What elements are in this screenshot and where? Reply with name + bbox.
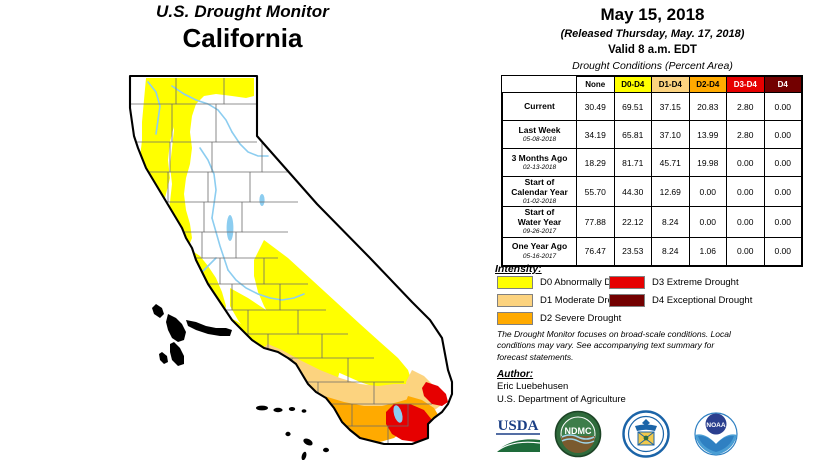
usda-seal-logo[interactable]: [622, 410, 670, 463]
valid-time: Valid 8 a.m. EDT: [485, 43, 820, 58]
table-caption: Drought Conditions (Percent Area): [485, 60, 820, 72]
legend-column-right: D3 Extreme Drought D4 Exceptional Drough…: [609, 276, 752, 312]
row-label-date: 05-16-2017: [505, 253, 574, 260]
table-row: 3 Months Ago 02-13-2018 18.29 81.71 45.7…: [503, 149, 802, 177]
col-header-none: None: [577, 77, 615, 93]
col-header-d1: D1-D4: [652, 77, 690, 93]
table-header-row: None D0-D4 D1-D4 D2-D4 D3-D4 D4: [503, 77, 802, 93]
drought-conditions-table: None D0-D4 D1-D4 D2-D4 D3-D4 D4 Current …: [502, 76, 802, 266]
col-header-d0: D0-D4: [614, 77, 652, 93]
cell-calyear-d3: 0.00: [727, 177, 765, 207]
legend-swatch-d0: [497, 276, 533, 289]
cell-lastweek-d2: 13.99: [689, 121, 727, 149]
disclaimer-text: The Drought Monitor focuses on broad-sca…: [497, 329, 742, 363]
legend-label-d2: D2 Severe Drought: [540, 313, 621, 324]
cell-lastweek-d1: 37.10: [652, 121, 690, 149]
svg-text:USDA: USDA: [498, 418, 539, 434]
title-block: U.S. Drought Monitor California: [0, 2, 485, 54]
table-row: Current 30.49 69.51 37.15 20.83 2.80 0.0…: [503, 93, 802, 121]
cell-wateryear-none: 77.88: [577, 207, 615, 237]
table-corner-cell: [503, 77, 577, 93]
ndmc-logo[interactable]: NDMC: [554, 410, 602, 463]
noaa-logo[interactable]: NOAA: [690, 410, 742, 463]
cell-3months-none: 18.29: [577, 149, 615, 177]
legend-item-d3: D3 Extreme Drought: [609, 276, 752, 289]
row-label-text: Current: [524, 101, 555, 111]
report-date: May 15, 2018: [485, 4, 820, 25]
row-label-text: Start of Calendar Year: [511, 177, 568, 197]
cell-wateryear-d1: 8.24: [652, 207, 690, 237]
cell-3months-d1: 45.71: [652, 149, 690, 177]
table-row: Last Week 05-08-2018 34.19 65.81 37.10 1…: [503, 121, 802, 149]
table-row: One Year Ago 05-16-2017 76.47 23.53 8.24…: [503, 237, 802, 265]
cell-3months-d4: 0.00: [764, 149, 802, 177]
cell-calyear-d4: 0.00: [764, 177, 802, 207]
legend-item-d4: D4 Exceptional Drought: [609, 294, 752, 307]
cell-3months-d0: 81.71: [614, 149, 652, 177]
cell-oneyear-d3: 0.00: [727, 237, 765, 265]
author-heading: Author:: [497, 369, 533, 380]
cell-wateryear-d0: 22.12: [614, 207, 652, 237]
cell-wateryear-d4: 0.00: [764, 207, 802, 237]
usda-logo[interactable]: USDA: [492, 410, 544, 463]
cell-oneyear-d1: 8.24: [652, 237, 690, 265]
svg-text:NOAA: NOAA: [706, 422, 725, 429]
row-label-text: One Year Ago: [512, 241, 567, 251]
col-header-d2: D2-D4: [689, 77, 727, 93]
cell-oneyear-d0: 23.53: [614, 237, 652, 265]
row-label-text: Start of Water Year: [518, 207, 561, 227]
cell-lastweek-d4: 0.00: [764, 121, 802, 149]
date-block: May 15, 2018 (Released Thursday, May. 17…: [485, 4, 820, 57]
author-block: Eric Luebehusen U.S. Department of Agric…: [497, 381, 626, 406]
legend-swatch-d2: [497, 312, 533, 325]
release-date: (Released Thursday, May. 17, 2018): [485, 27, 820, 41]
row-label-text: Last Week: [519, 125, 561, 135]
map-panel: U.S. Drought Monitor California: [0, 0, 485, 462]
cell-current-d0: 69.51: [614, 93, 652, 121]
cell-current-d3: 2.80: [727, 93, 765, 121]
cell-wateryear-d2: 0.00: [689, 207, 727, 237]
cell-lastweek-d3: 2.80: [727, 121, 765, 149]
legend-swatch-d3: [609, 276, 645, 289]
table-row: Start of Water Year 09-26-2017 77.88 22.…: [503, 207, 802, 237]
author-agency: U.S. Department of Agriculture: [497, 394, 626, 407]
author-name: Eric Luebehusen: [497, 381, 626, 394]
drought-monitor-page: U.S. Drought Monitor California: [0, 0, 820, 462]
legend-label-d0: D0 Abnormally Dry: [540, 277, 619, 288]
cell-current-d4: 0.00: [764, 93, 802, 121]
row-label-date: 09-26-2017: [505, 228, 574, 235]
col-header-d4: D4: [764, 77, 802, 93]
legend-label-d4: D4 Exceptional Drought: [652, 295, 752, 306]
cell-calyear-d0: 44.30: [614, 177, 652, 207]
info-panel: May 15, 2018 (Released Thursday, May. 17…: [485, 0, 820, 462]
logo-row: USDA NDMC: [492, 410, 820, 460]
row-label-3-months-ago: 3 Months Ago 02-13-2018: [503, 149, 577, 177]
col-header-d3: D3-D4: [727, 77, 765, 93]
cell-oneyear-d2: 1.06: [689, 237, 727, 265]
cell-current-d1: 37.15: [652, 93, 690, 121]
cell-calyear-d2: 0.00: [689, 177, 727, 207]
row-label-text: 3 Months Ago: [512, 153, 568, 163]
row-label-start-water-year: Start of Water Year 09-26-2017: [503, 207, 577, 237]
table-row: Start of Calendar Year 01-02-2018 55.70 …: [503, 177, 802, 207]
cell-3months-d2: 19.98: [689, 149, 727, 177]
row-label-date: 01-02-2018: [505, 198, 574, 205]
row-label-one-year-ago: One Year Ago 05-16-2017: [503, 237, 577, 265]
cell-current-d2: 20.83: [689, 93, 727, 121]
cell-current-none: 30.49: [577, 93, 615, 121]
california-drought-map[interactable]: [112, 52, 480, 460]
row-label-start-calendar-year: Start of Calendar Year 01-02-2018: [503, 177, 577, 207]
legend-swatch-d4: [609, 294, 645, 307]
state-title: California: [0, 23, 485, 54]
legend-item-d2: D2 Severe Drought: [497, 312, 631, 325]
cell-oneyear-d4: 0.00: [764, 237, 802, 265]
row-label-date: 02-13-2018: [505, 164, 574, 171]
legend-label-d3: D3 Extreme Drought: [652, 277, 739, 288]
legend-heading: Intensity:: [495, 263, 542, 275]
cell-oneyear-none: 76.47: [577, 237, 615, 265]
row-label-last-week: Last Week 05-08-2018: [503, 121, 577, 149]
cell-calyear-none: 55.70: [577, 177, 615, 207]
svg-text:NDMC: NDMC: [565, 426, 592, 436]
row-label-current: Current: [503, 93, 577, 121]
cell-lastweek-none: 34.19: [577, 121, 615, 149]
cell-calyear-d1: 12.69: [652, 177, 690, 207]
row-label-date: 05-08-2018: [505, 136, 574, 143]
page-title: U.S. Drought Monitor: [0, 2, 485, 22]
cell-lastweek-d0: 65.81: [614, 121, 652, 149]
cell-3months-d3: 0.00: [727, 149, 765, 177]
legend-swatch-d1: [497, 294, 533, 307]
cell-wateryear-d3: 0.00: [727, 207, 765, 237]
